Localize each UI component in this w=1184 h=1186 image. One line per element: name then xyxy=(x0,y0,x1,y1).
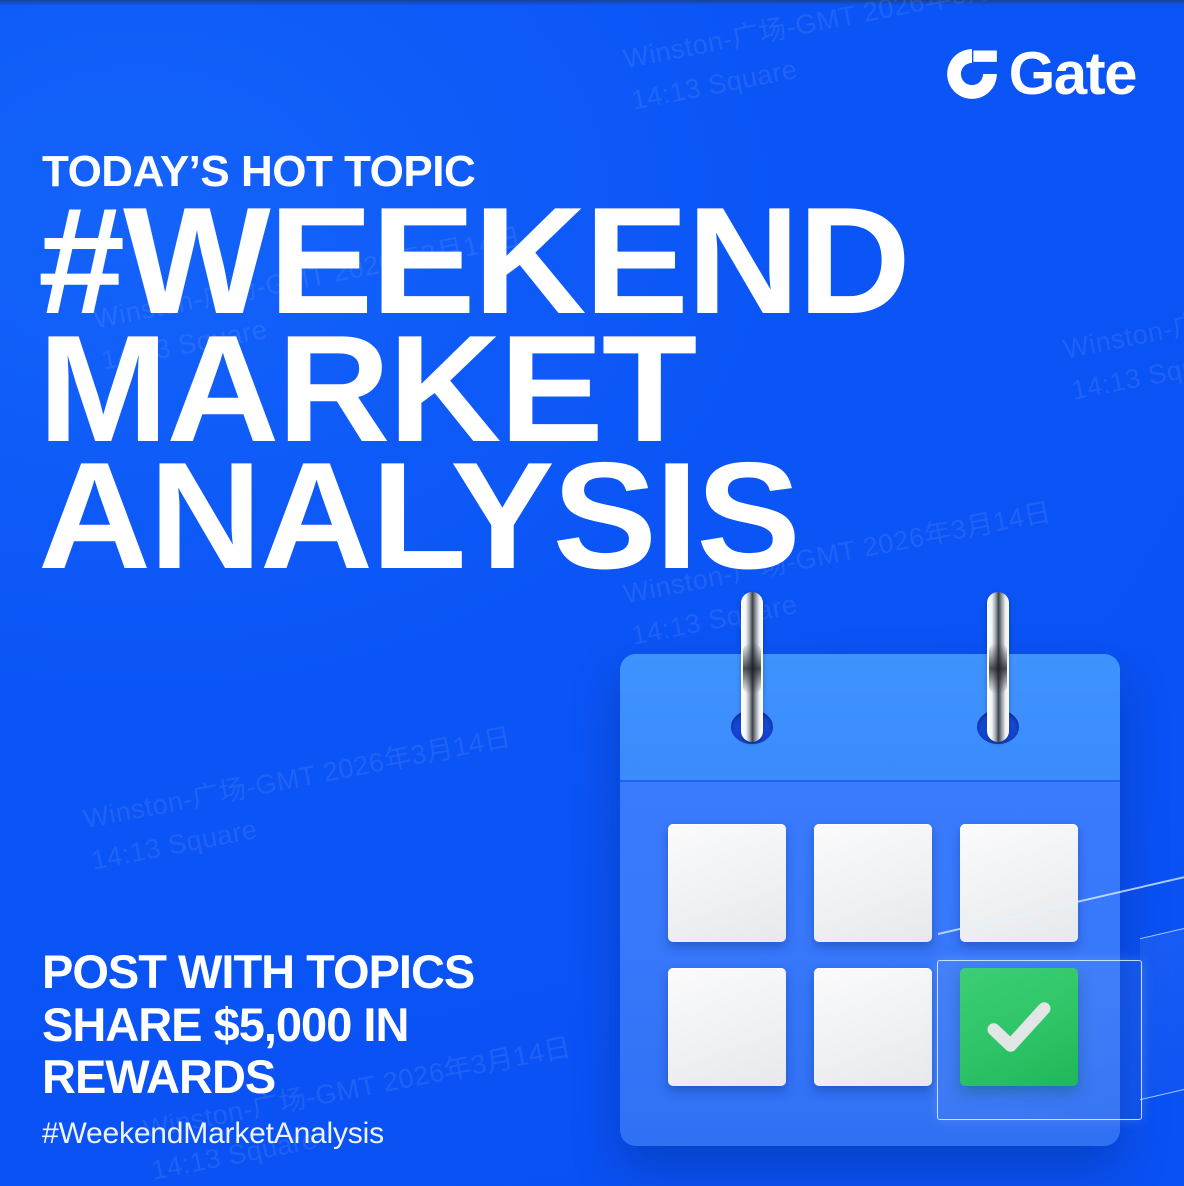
cta-text: POST WITH TOPICS SHARE $5,000 IN REWARDS xyxy=(42,946,474,1104)
gate-wordmark: Gate xyxy=(1009,44,1136,104)
watermark: Winston-广场-GMT 2026年3月14日 14:13 Square xyxy=(1060,247,1184,412)
gate-circle-icon xyxy=(945,47,999,101)
calendar-ring-icon xyxy=(987,592,1009,742)
day-tile-1[interactable] xyxy=(668,824,786,942)
calendar-day-grid xyxy=(668,824,1078,1086)
calendar-body xyxy=(620,654,1120,1146)
cta-line-1: POST WITH TOPICS xyxy=(42,946,474,999)
watermark-line1: Winston-广场-GMT 2026年3月14日 xyxy=(80,717,515,841)
day-tile-5[interactable] xyxy=(814,968,932,1086)
promo-poster: Winston-广场-GMT 2026年3月14日 14:13 Square W… xyxy=(0,0,1184,1186)
gate-logo[interactable]: Gate xyxy=(945,44,1136,104)
calendar-header-band xyxy=(620,654,1120,782)
cta-line-2: SHARE $5,000 IN xyxy=(42,999,474,1052)
headline: #WEEKEND MARKET ANALYSIS xyxy=(38,198,909,581)
cta-line-3: REWARDS xyxy=(42,1051,474,1104)
day-tile-6-checked[interactable] xyxy=(960,968,1078,1086)
watermark: Winston-广场-GMT 2026年3月14日 14:13 Square xyxy=(80,717,523,882)
check-icon xyxy=(977,985,1061,1069)
watermark-line1: Winston-广场-GMT 2026年3月14日 xyxy=(1060,247,1184,371)
campaign-hashtag: #WeekendMarketAnalysis xyxy=(42,1117,384,1151)
watermark-line2: 14:13 Square xyxy=(88,758,523,882)
day-tile-2[interactable] xyxy=(814,824,932,942)
headline-line-3: ANALYSIS xyxy=(38,453,909,581)
watermark-line2: 14:13 Square xyxy=(1068,288,1184,412)
day-tile-3[interactable] xyxy=(960,824,1078,942)
top-edge-strip xyxy=(0,0,1184,5)
calendar-ring-icon xyxy=(741,592,763,742)
day-tile-4[interactable] xyxy=(668,968,786,1086)
